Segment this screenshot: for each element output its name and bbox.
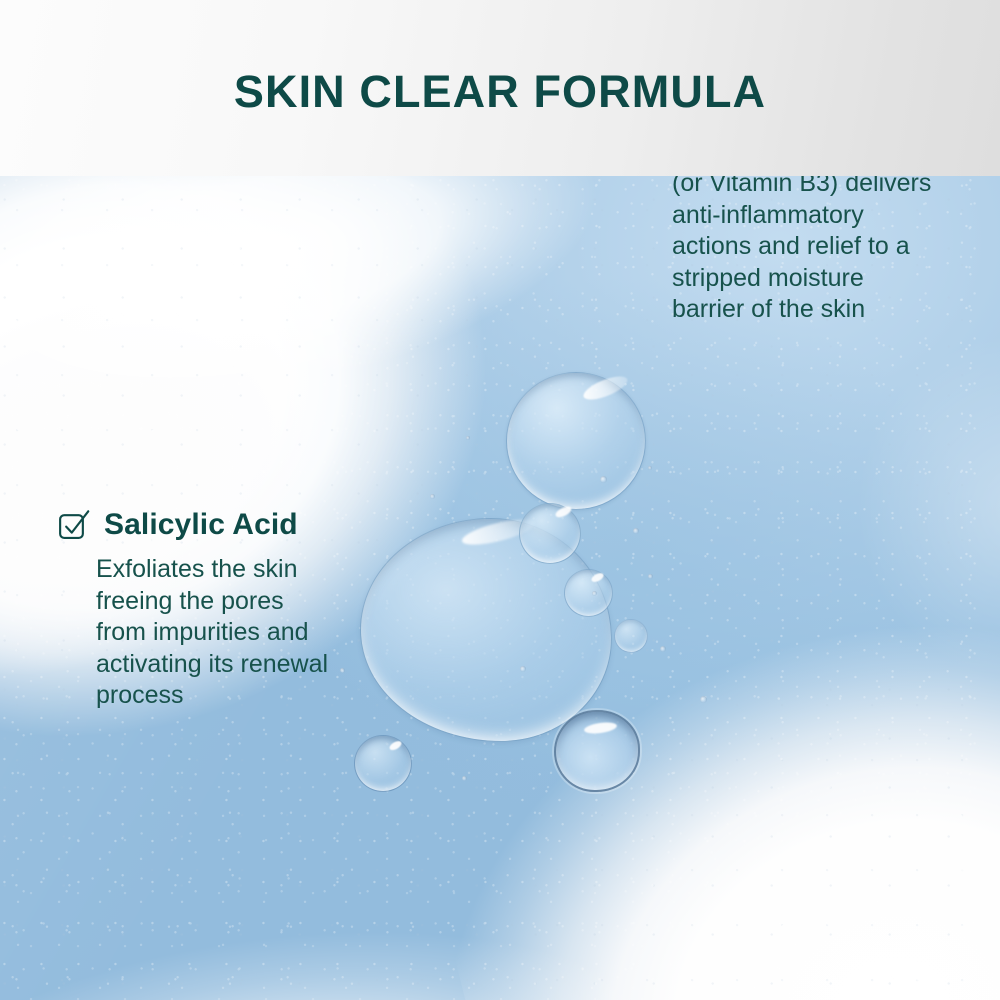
- feature-title-salicylic-acid: Salicylic Acid: [104, 510, 298, 540]
- feature-description-niacinamide: (or Vitamin B3) delivers anti-inflammato…: [672, 168, 961, 326]
- product-ingredient-poster: SKIN CLEAR FORMULA Niacinamide (or Vitam…: [0, 0, 1000, 1000]
- feature-heading-salicylic-acid: Salicylic Acid: [58, 508, 378, 541]
- header-band: SKIN CLEAR FORMULA: [0, 0, 1000, 176]
- page-title: SKIN CLEAR FORMULA: [0, 66, 1000, 118]
- feature-description-salicylic-acid: Exfoliates the skin freeing the pores fr…: [96, 554, 378, 712]
- feature-block-salicylic-acid: Salicylic Acid Exfoliates the skin freei…: [58, 508, 378, 712]
- checkbox-checked-icon: [58, 508, 91, 541]
